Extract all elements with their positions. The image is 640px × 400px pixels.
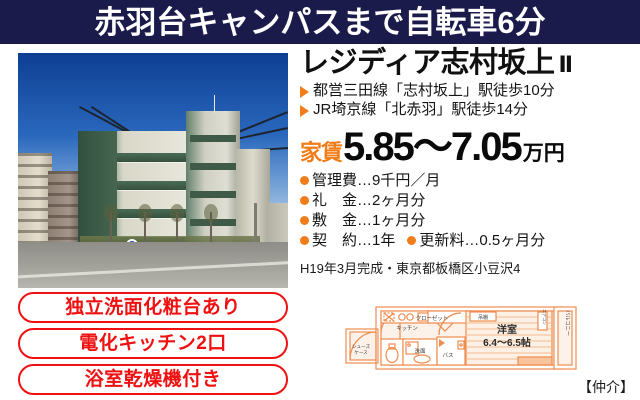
feature-box-bath-dryer: 浴室乾燥機付き — [18, 364, 288, 395]
fee-key: 更新料 — [419, 231, 464, 251]
street-tree — [210, 212, 212, 246]
rent-unit: 万円 — [523, 137, 565, 167]
fee-key: 礼 金 — [312, 191, 357, 211]
rent-value: 5.85〜7.05 — [343, 127, 521, 167]
feature-label: 独立洗面化粧台あり — [65, 298, 241, 317]
photo-road — [18, 242, 288, 288]
fee-sep: … — [357, 231, 372, 251]
rooftop-antenna — [214, 95, 215, 113]
fee-key: 管理費 — [312, 171, 357, 191]
rent-row: 家賃 5.85〜7.05 万円 — [300, 127, 636, 167]
property-name: レジディア志村坂上 — [300, 47, 554, 79]
floor-plan-drawing: クローゼット 吊棚 キッチン シューズ ケース 洗面 バス 洋室 6.4〜6.5… — [340, 303, 588, 381]
station-access-item: JR埼京線「北赤羽」駅徒歩14分 — [300, 101, 636, 120]
fee-key: 敷 金 — [312, 211, 357, 231]
circle-bullet-icon — [300, 176, 309, 185]
floorplan-label-shoes-line1: シューズ — [352, 343, 371, 350]
circle-bullet-icon — [407, 236, 416, 245]
circle-bullet-icon — [300, 196, 309, 205]
fee-value: 1ヶ月分 — [372, 211, 425, 231]
floorplan-label-shoes-line2: ケース — [354, 349, 368, 355]
property-numeral: Ⅱ — [558, 52, 572, 77]
advertisement-page: 赤羽台キャンパスまで自転車6分 — [0, 0, 640, 400]
triangle-bullet-icon — [300, 105, 309, 117]
agency-tag: 【仲介】 — [578, 377, 634, 397]
station-access-list: 都営三田線「志村坂上」駅徒歩10分 JR埼京線「北赤羽」駅徒歩14分 — [300, 82, 636, 120]
building-info: H19年3月完成・東京都板橋区小豆沢4 — [300, 258, 636, 277]
floorplan-label-aircon: エアコン — [542, 309, 547, 325]
fee-value: 2ヶ月分 — [372, 191, 425, 211]
fee-sep: … — [464, 231, 479, 251]
floorplan-label-closet: クローゼット — [416, 314, 448, 322]
fee-value: 1年 — [372, 231, 395, 251]
street-tree — [110, 212, 112, 246]
fee-line-renewal: 更新料 … 0.5ヶ月分 — [407, 231, 545, 251]
fee-value: 9千円／月 — [372, 171, 440, 191]
fee-sep: … — [357, 211, 372, 231]
feature-box-washstand: 独立洗面化粧台あり — [18, 292, 288, 323]
property-info-column: レジディア志村坂上Ⅱ 都営三田線「志村坂上」駅徒歩10分 JR埼京線「北赤羽」駅… — [300, 48, 636, 277]
floorplan-label-shelf: 吊棚 — [478, 314, 488, 321]
street-tree — [144, 212, 146, 246]
floorplan-label-washroom: 洗面 — [414, 347, 426, 355]
floorplan-label-room-size: 6.4〜6.5帖 — [483, 336, 531, 349]
fee-sep: … — [357, 191, 372, 211]
street-tree — [176, 212, 178, 246]
fee-line-deposit: 敷 金 … 1ヶ月分 — [300, 211, 636, 231]
station-access-text: 都営三田線「志村坂上」駅徒歩10分 — [313, 82, 555, 101]
station-access-text: JR埼京線「北赤羽」駅徒歩14分 — [313, 101, 528, 120]
feature-label: 浴室乾燥機付き — [85, 370, 222, 389]
rent-label: 家賃 — [300, 135, 342, 167]
floorplan-label-kitchen: キッチン — [396, 325, 418, 332]
feature-box-kitchen: 電化キッチン2口 — [18, 328, 288, 359]
fee-line-management: 管理費 … 9千円／月 — [300, 171, 636, 191]
floor-plan: クローゼット 吊棚 キッチン シューズ ケース 洗面 バス 洋室 6.4〜6.5… — [340, 303, 588, 381]
fee-list: 管理費 … 9千円／月 礼 金 … 2ヶ月分 敷 金 … 1ヶ月分 契 約 … … — [300, 171, 636, 251]
feature-box-list: 独立洗面化粧台あり 電化キッチン2口 浴室乾燥機付き — [18, 292, 288, 395]
fee-line-key-money: 礼 金 … 2ヶ月分 — [300, 191, 636, 211]
header-banner: 赤羽台キャンパスまで自転車6分 — [0, 0, 640, 44]
circle-bullet-icon — [300, 216, 309, 225]
fee-value: 0.5ヶ月分 — [479, 231, 545, 251]
triangle-bullet-icon — [300, 86, 309, 98]
header-headline: 赤羽台キャンパスまで自転車6分 — [94, 7, 545, 38]
floorplan-label-bath: バス — [442, 352, 454, 359]
floorplan-label-balcony: バルコニー — [564, 310, 571, 336]
property-title: レジディア志村坂上Ⅱ — [300, 48, 636, 78]
circle-bullet-icon — [300, 236, 309, 245]
fee-line-contract: 契 約 … 1年 更新料 … 0.5ヶ月分 — [300, 231, 636, 251]
station-access-item: 都営三田線「志村坂上」駅徒歩10分 — [300, 82, 636, 101]
building-photo — [18, 53, 288, 288]
feature-label: 電化キッチン2口 — [79, 334, 227, 353]
floorplan-label-room-name: 洋室 — [497, 323, 517, 336]
fee-key: 契 約 — [312, 231, 357, 251]
fee-sep: … — [357, 171, 372, 191]
